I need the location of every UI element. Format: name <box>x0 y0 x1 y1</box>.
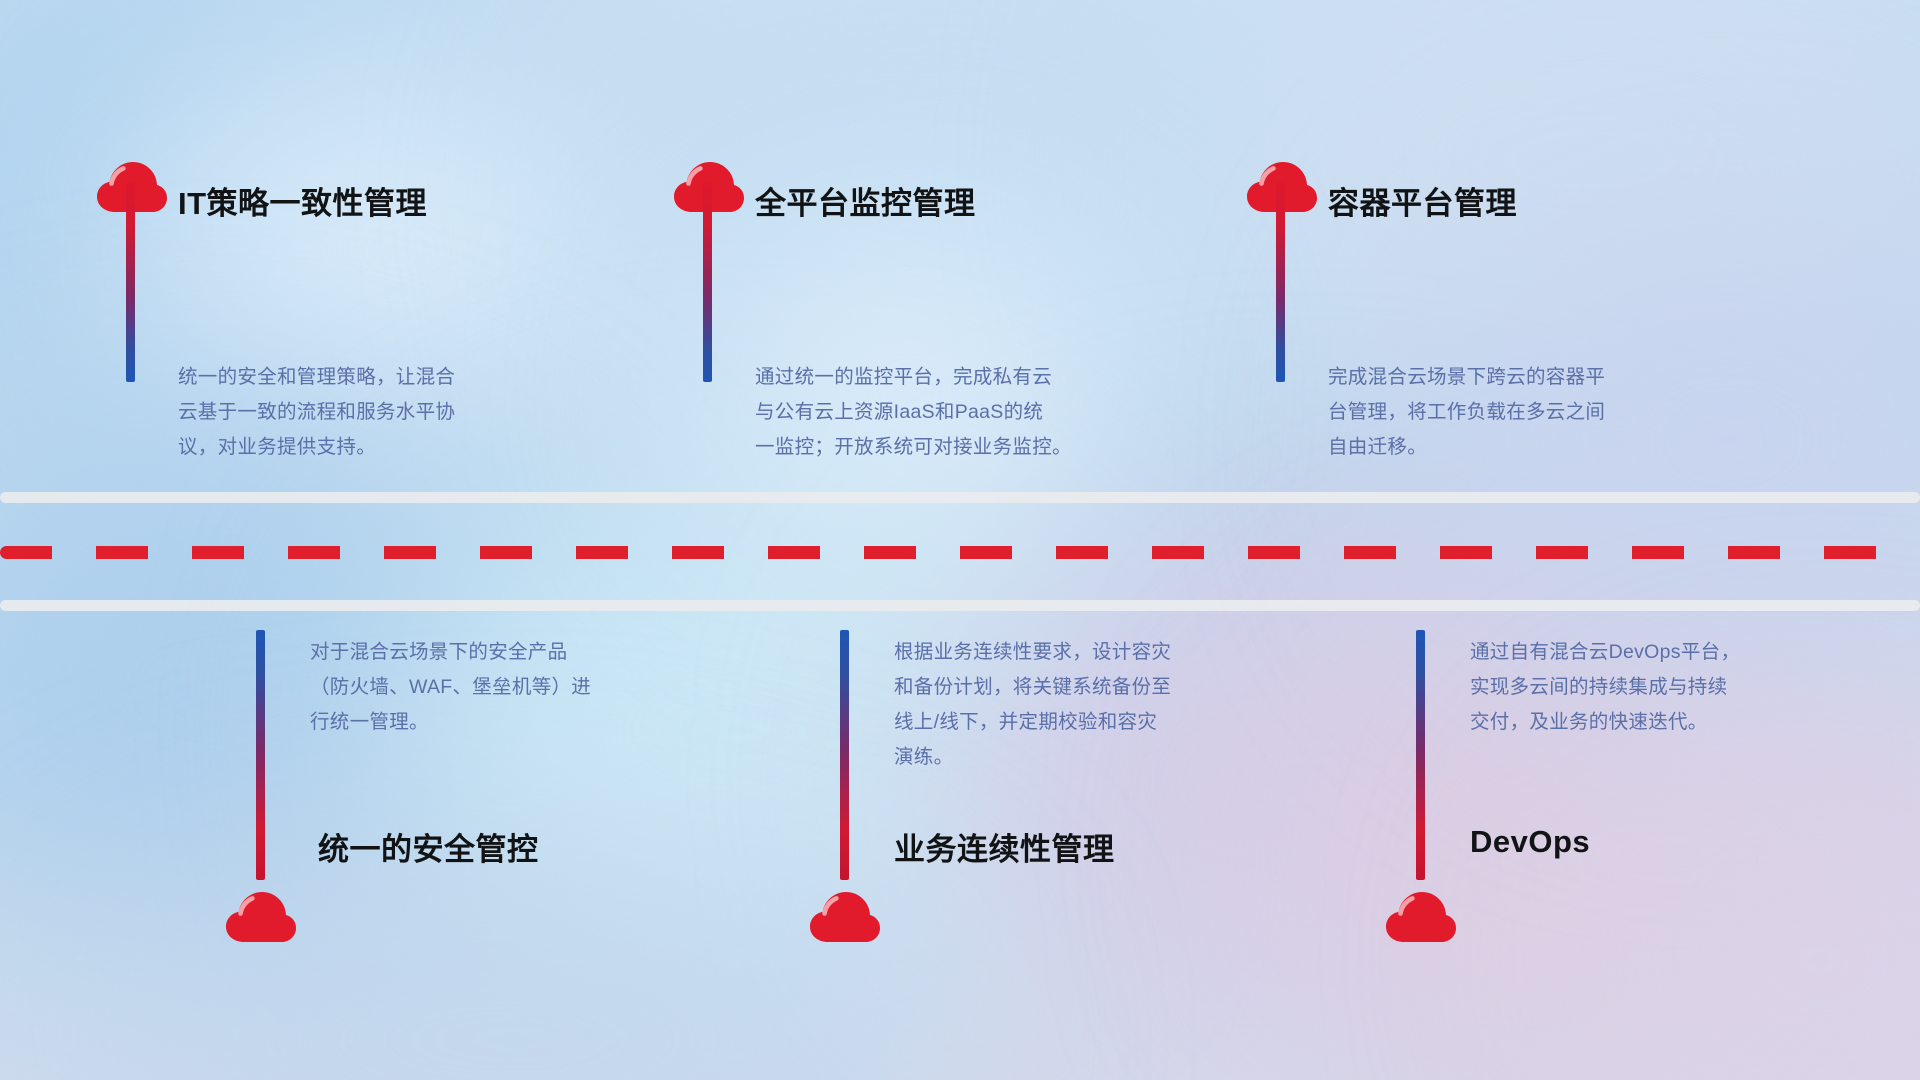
cloud-icon <box>224 888 298 944</box>
card-body: 通过统一的监控平台，完成私有云 与公有云上资源IaaS和PaaS的统 一监控；开… <box>755 360 1205 465</box>
card-title: 容器平台管理 <box>1328 178 1517 223</box>
connector-bar <box>840 630 849 880</box>
card-body: 对于混合云场景下的安全产品 （防火墙、WAF、堡垒机等）进 行统一管理。 <box>310 635 750 740</box>
card-body: 统一的安全和管理策略，让混合 云基于一致的流程和服务水平协 议，对业务提供支持。 <box>178 360 618 465</box>
connector-bar <box>703 182 712 382</box>
cloud-icon <box>808 888 882 944</box>
card-body: 通过自有混合云DevOps平台， 实现多云间的持续集成与持续 交付，及业务的快速… <box>1470 635 1910 740</box>
card-body: 根据业务连续性要求，设计容灾 和备份计划，将关键系统备份至 线上/线下，并定期校… <box>894 635 1334 775</box>
connector-bar <box>126 182 135 382</box>
road-edge-line-top <box>0 492 1920 503</box>
card-title: 业务连续性管理 <box>894 824 1115 869</box>
card-title: DevOps <box>1470 824 1590 860</box>
card-body: 完成混合云场景下跨云的容器平 台管理，将工作负载在多云之间 自由迁移。 <box>1328 360 1778 465</box>
road-edge-line-bottom <box>0 600 1920 611</box>
infographic-stage: IT策略一致性管理 统一的安全和管理策略，让混合 云基于一致的流程和服务水平协 … <box>0 0 1920 1080</box>
card-title: IT策略一致性管理 <box>178 178 427 223</box>
card-title: 统一的安全管控 <box>318 824 539 869</box>
connector-bar <box>1276 182 1285 382</box>
card-title: 全平台监控管理 <box>755 178 976 223</box>
connector-bar <box>1416 630 1425 880</box>
cloud-icon <box>1384 888 1458 944</box>
road-center-dashed-line <box>0 546 1920 559</box>
connector-bar <box>256 630 265 880</box>
